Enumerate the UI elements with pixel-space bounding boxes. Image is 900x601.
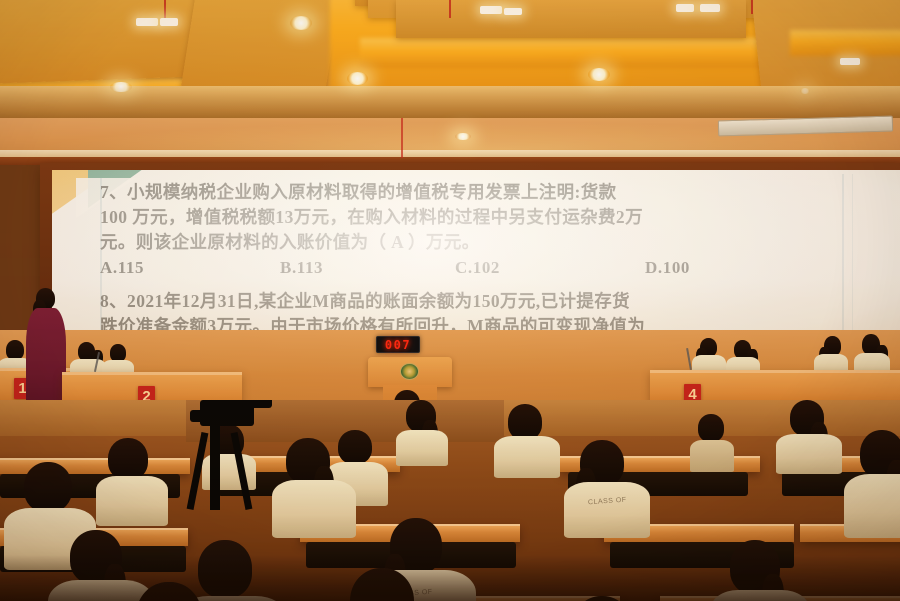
countdown-timer: 007	[376, 336, 420, 353]
question-7-option-b: B.113	[280, 255, 455, 280]
wall-downlight	[455, 133, 471, 140]
slide-content: 7、小规模纳税企业购入原材料取得的增值税专用发票上注明:货款 100 万元，增值…	[100, 180, 900, 352]
quiz-question-7: 7、小规模纳税企业购入原材料取得的增值税专用发票上注明:货款 100 万元，增值…	[100, 180, 900, 280]
ceiling-spotlight	[136, 18, 158, 26]
ceiling-spotlight	[504, 8, 522, 15]
question-7-line-1: 7、小规模纳税企业购入原材料取得的增值税专用发票上注明:货款	[100, 180, 900, 205]
question-7-options: A.115 B.113 C.102 D.100	[100, 255, 900, 280]
ceiling-spotlight	[840, 58, 860, 65]
wall-cable	[401, 118, 403, 158]
timer-digits: 007	[385, 338, 411, 352]
ceiling-spotlight	[700, 4, 720, 12]
ceiling-hanger	[751, 0, 753, 14]
podium-emblem-icon	[400, 363, 419, 380]
wall-trim	[0, 150, 900, 157]
lecture-hall-photo: 7、小规模纳税企业购入原材料取得的增值税专用发票上注明:货款 100 万元，增值…	[0, 0, 900, 601]
ceiling-spotlight	[676, 4, 694, 12]
projection-screen: 7、小规模纳税企业购入原材料取得的增值税专用发票上注明:货款 100 万元，增值…	[52, 170, 900, 352]
ceiling-hanger	[449, 0, 451, 18]
ceiling-downlight	[347, 72, 368, 85]
question-7-option-c: C.102	[455, 255, 645, 280]
ceiling-spotlight	[480, 6, 502, 14]
ceiling-spotlight	[160, 18, 178, 26]
ceiling-downlight	[588, 68, 610, 81]
audience-area: CLASS OF CLASS OF	[0, 400, 900, 601]
question-7-option-d: D.100	[645, 255, 765, 280]
question-8-line-1: 8、2021年12月31日,某企业M商品的账面余额为150万元,已计提存货	[100, 289, 900, 314]
ceiling	[0, 0, 900, 122]
question-7-option-a: A.115	[100, 255, 280, 280]
question-7-line-3: 元。则该企业原材料的入账价值为（ A ）万元。	[100, 230, 900, 255]
question-7-line-2: 100 万元，增值税税额13万元，在购入材料的过程中另支付运杂费2万	[100, 205, 900, 230]
ceiling-downlight	[290, 16, 312, 30]
